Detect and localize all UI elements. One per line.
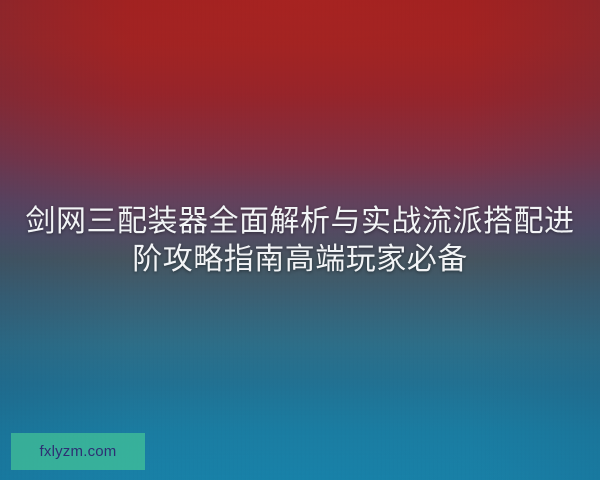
watermark-badge: fxlyzm.com [11,433,145,470]
background-top-red-glow [0,0,600,190]
watermark-text: fxlyzm.com [40,443,117,460]
page-title: 剑网三配装器全面解析与实战流派搭配进 阶攻略指南高端玩家必备 [0,203,600,279]
cover-image-canvas: 剑网三配装器全面解析与实战流派搭配进 阶攻略指南高端玩家必备 fxlyzm.co… [0,0,600,480]
